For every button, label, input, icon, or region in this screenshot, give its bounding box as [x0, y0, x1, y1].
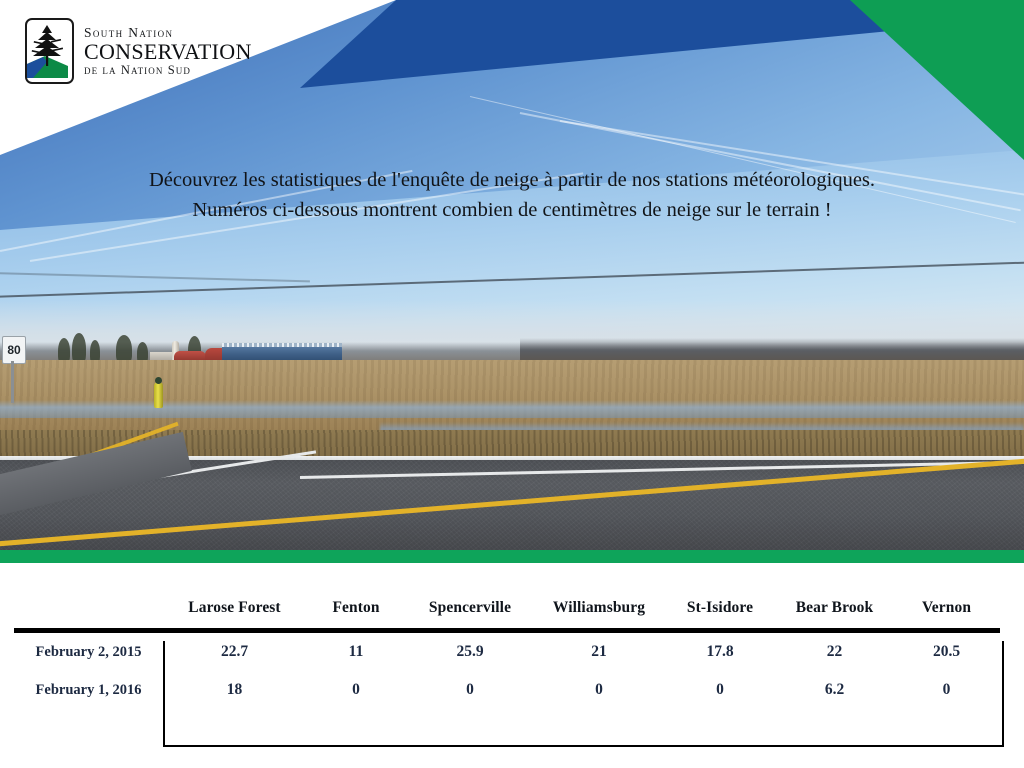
table-row: February 2, 2015 22.7 11 25.9 21 17.8 22… — [14, 631, 1000, 672]
logo-line-3: de la Nation Sud — [84, 64, 252, 77]
column-header-fenton: Fenton — [306, 588, 406, 628]
logo-wordmark: South Nation CONSERVATION de la Nation S… — [84, 26, 252, 76]
logo-line-2: CONSERVATION — [84, 41, 252, 63]
pine-tree-logo-icon — [25, 18, 74, 84]
table-corner-cell — [14, 588, 163, 628]
cell-2015-bear-brook: 22 — [776, 631, 893, 672]
cell-2016-vernon: 0 — [893, 671, 1000, 709]
logo[interactable]: South Nation CONSERVATION de la Nation S… — [25, 17, 265, 85]
cell-2015-williamsburg: 21 — [534, 631, 664, 672]
headline-line-2: Numéros ci-dessous montrent combien de c… — [0, 195, 1024, 225]
pine-tree-icon-svg — [27, 20, 68, 78]
table-header-row: Larose Forest Fenton Spencerville Willia… — [14, 588, 1000, 628]
table-row: February 1, 2016 18 0 0 0 0 6.2 0 — [14, 671, 1000, 709]
cell-2016-fenton: 0 — [306, 671, 406, 709]
row-label-2016: February 1, 2016 — [14, 671, 163, 709]
cell-2016-williamsburg: 0 — [534, 671, 664, 709]
cell-2016-st-isidore: 0 — [664, 671, 776, 709]
fire-hydrant — [154, 382, 163, 408]
green-divider-bar — [0, 550, 1024, 563]
cell-2015-spencerville: 25.9 — [406, 631, 534, 672]
column-header-st-isidore: St-Isidore — [664, 588, 776, 628]
snow-survey-table: Larose Forest Fenton Spencerville Willia… — [14, 588, 1000, 709]
slide-canvas: 80 — [0, 0, 1024, 768]
headline: Découvrez les statistiques de l'enquête … — [0, 165, 1024, 225]
logo-line-1: South Nation — [84, 26, 252, 40]
cell-2016-spencerville: 0 — [406, 671, 534, 709]
column-header-vernon: Vernon — [893, 588, 1000, 628]
column-header-bear-brook: Bear Brook — [776, 588, 893, 628]
headline-line-1: Découvrez les statistiques de l'enquête … — [0, 165, 1024, 195]
farm-barn-blue-roof — [222, 343, 342, 347]
column-header-williamsburg: Williamsburg — [534, 588, 664, 628]
cell-2015-larose-forest: 22.7 — [163, 631, 306, 672]
cell-2016-larose-forest: 18 — [163, 671, 306, 709]
speed-limit-value: 80 — [3, 337, 25, 363]
cell-2015-vernon: 20.5 — [893, 631, 1000, 672]
fire-hydrant-cap — [155, 377, 162, 384]
cell-2015-fenton: 11 — [306, 631, 406, 672]
speed-limit-post — [11, 361, 14, 403]
snow-table-zone: Larose Forest Fenton Spencerville Willia… — [0, 575, 1024, 768]
cell-2015-st-isidore: 17.8 — [664, 631, 776, 672]
row-label-2015: February 2, 2015 — [14, 631, 163, 672]
speed-limit-sign: 80 — [2, 336, 26, 364]
column-header-larose-forest: Larose Forest — [163, 588, 306, 628]
banner-photo: 80 — [0, 0, 1024, 552]
column-header-spencerville: Spencerville — [406, 588, 534, 628]
cell-2016-bear-brook: 6.2 — [776, 671, 893, 709]
